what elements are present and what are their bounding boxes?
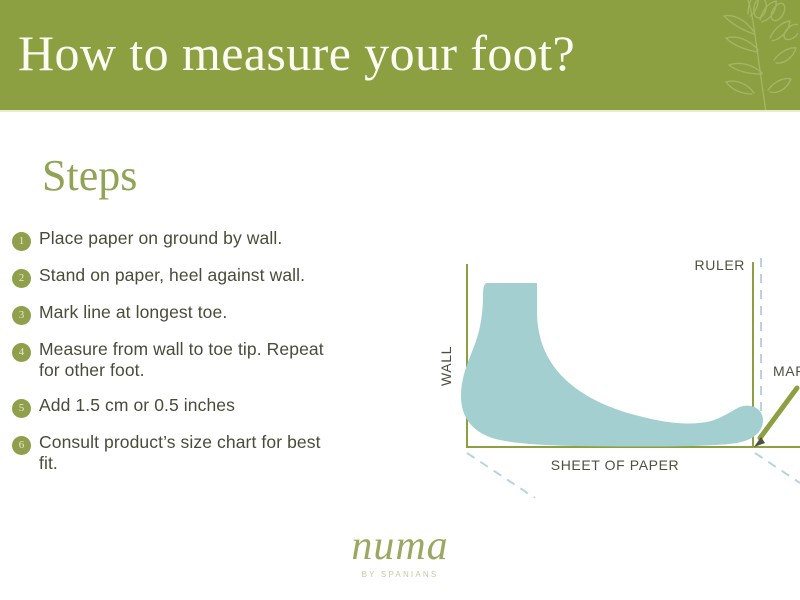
leaf-branch-icon (688, 0, 798, 112)
label-sheet-of-paper: SHEET OF PAPER (551, 457, 679, 473)
list-item: 1 Place paper on ground by wall. (12, 228, 432, 251)
step-number-badge: 5 (12, 399, 31, 418)
list-item: 2 Stand on paper, heel against wall. (12, 265, 432, 288)
foot-measurement-diagram: WALL SHEET OF PAPER RULER MARK (425, 248, 800, 498)
step-text: Stand on paper, heel against wall. (39, 265, 305, 286)
step-text: Mark line at longest toe. (39, 302, 227, 323)
logo-tagline: BY SPANIANS (0, 570, 800, 579)
step-number-badge: 4 (12, 343, 31, 362)
step-text: Consult product’s size chart for best fi… (39, 432, 339, 474)
header-banner: How to measure your foot? (0, 0, 800, 112)
steps-heading: Steps (42, 150, 137, 202)
list-item: 4 Measure from wall to toe tip. Repeat f… (12, 339, 432, 381)
step-number-badge: 6 (12, 436, 31, 455)
step-number-badge: 1 (12, 232, 31, 251)
steps-list: 1 Place paper on ground by wall. 2 Stand… (12, 228, 432, 488)
foot-silhouette-icon (461, 283, 763, 447)
step-number-badge: 3 (12, 306, 31, 325)
step-number-badge: 2 (12, 269, 31, 288)
label-mark: MARK (773, 363, 800, 379)
header-divider (0, 110, 800, 112)
step-text: Place paper on ground by wall. (39, 228, 282, 249)
brand-logo: numa BY SPANIANS (0, 524, 800, 579)
logo-wordmark: numa (0, 524, 800, 568)
infographic-page: How to measure your foot? Steps (0, 0, 800, 600)
list-item: 6 Consult product’s size chart for best … (12, 432, 432, 474)
label-wall: WALL (438, 346, 454, 386)
step-text: Add 1.5 cm or 0.5 inches (39, 395, 235, 416)
list-item: 3 Mark line at longest toe. (12, 302, 432, 325)
page-title: How to measure your foot? (18, 22, 575, 84)
step-text: Measure from wall to toe tip. Repeat for… (39, 339, 329, 381)
list-item: 5 Add 1.5 cm or 0.5 inches (12, 395, 432, 418)
label-ruler: RULER (695, 257, 745, 273)
